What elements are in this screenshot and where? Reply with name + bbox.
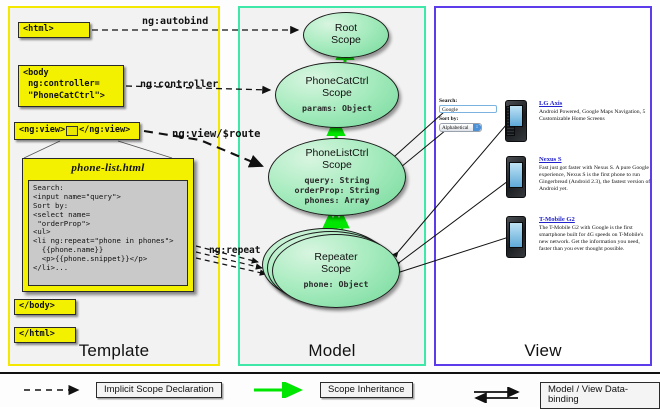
column-view-label: View	[436, 341, 650, 361]
scope-phonelistctrl-props: query: String orderProp: String phones: …	[295, 176, 380, 206]
scope-repeater-props: phone: Object	[304, 280, 369, 290]
tag-html-close: </html>	[14, 327, 76, 343]
green-arrow-icon	[252, 382, 312, 398]
tag-body-open: <body ng:controller= "PhoneCatCtrl">	[18, 65, 124, 107]
legend-label-scope-inheritance: Scope Inheritance	[320, 382, 413, 398]
sort-select[interactable]: Alphabetical ↕	[439, 123, 482, 132]
dashed-arrow-icon	[22, 382, 88, 398]
scope-phonelistctrl-name-2: Scope	[322, 160, 352, 172]
scope-phonelistctrl: PhoneListCtrl Scope query: String orderP…	[268, 138, 406, 216]
tag-ngview: <ng:view> </ng:view>	[14, 122, 140, 140]
phone-name-link[interactable]: LG Axis	[539, 100, 651, 107]
phone-snippet: The T-Mobile G2 with Google is the first…	[539, 225, 651, 253]
callout-code: Search: <input name="query"> Sort by: <s…	[28, 180, 188, 286]
legend-label-implicit-scope-declaration: Implicit Scope Declaration	[96, 382, 222, 398]
scope-repeater: Repeater Scope phone: Object	[272, 234, 400, 308]
column-model-label: Model	[240, 341, 424, 361]
legend: Implicit Scope Declaration Scope Inherit…	[0, 372, 660, 407]
phone-name-link[interactable]: Nexus S	[539, 156, 651, 163]
phone-list-callout: phone-list.html Search: <input name="que…	[22, 158, 194, 292]
legend-item-implicit-scope-declaration: Implicit Scope Declaration	[22, 382, 222, 398]
phone-name-link[interactable]: T-Mobile G2	[539, 216, 651, 223]
ngview-open-label: <ng:view>	[19, 125, 65, 136]
diagram-canvas: Template Model View	[0, 0, 660, 405]
scope-repeater-name-2: Scope	[321, 264, 351, 276]
search-label: Search:	[439, 98, 457, 104]
phone-snippet: Android Powered, Google Maps Navigation,…	[539, 109, 651, 123]
ngview-slot-icon	[66, 126, 78, 136]
double-arrow-icon	[470, 387, 532, 403]
phone-thumbnail-icon	[501, 156, 531, 198]
scope-root-name-2: Scope	[331, 35, 361, 47]
phone-thumbnail-icon	[501, 216, 531, 258]
legend-item-scope-inheritance: Scope Inheritance	[252, 382, 413, 398]
phone-thumbnail-icon	[501, 100, 531, 142]
sort-label: Sort by:	[439, 116, 458, 122]
scope-phonecatctrl-props: params: Object	[302, 104, 372, 114]
connector-label-autobind: ng:autobind	[142, 16, 208, 27]
ngview-close-label: </ng:view>	[79, 125, 130, 136]
sort-select-value: Alphabetical	[442, 125, 469, 131]
column-template-label: Template	[10, 341, 218, 361]
connector-label-ngview-route: ng:view/$route	[172, 128, 261, 140]
tag-html-open: <html>	[18, 22, 90, 38]
connector-label-repeat: ng:repeat	[209, 245, 260, 256]
phone-snippet: Fast just got faster with Nexus S. A pur…	[539, 165, 651, 193]
scope-phonecatctrl: PhoneCatCtrl Scope params: Object	[275, 62, 399, 128]
search-input[interactable]: Google	[439, 105, 497, 113]
scope-phonecatctrl-name-2: Scope	[322, 88, 352, 100]
connector-label-controller: ng:controller	[140, 79, 218, 90]
tag-body-close: </body>	[14, 299, 76, 315]
chevron-updown-icon: ↕	[473, 124, 481, 131]
view-app: Search: Google Sort by: Alphabetical ↕ L…	[437, 98, 651, 288]
callout-title: phone-list.html	[23, 159, 193, 176]
scope-root: Root Scope	[303, 12, 389, 58]
